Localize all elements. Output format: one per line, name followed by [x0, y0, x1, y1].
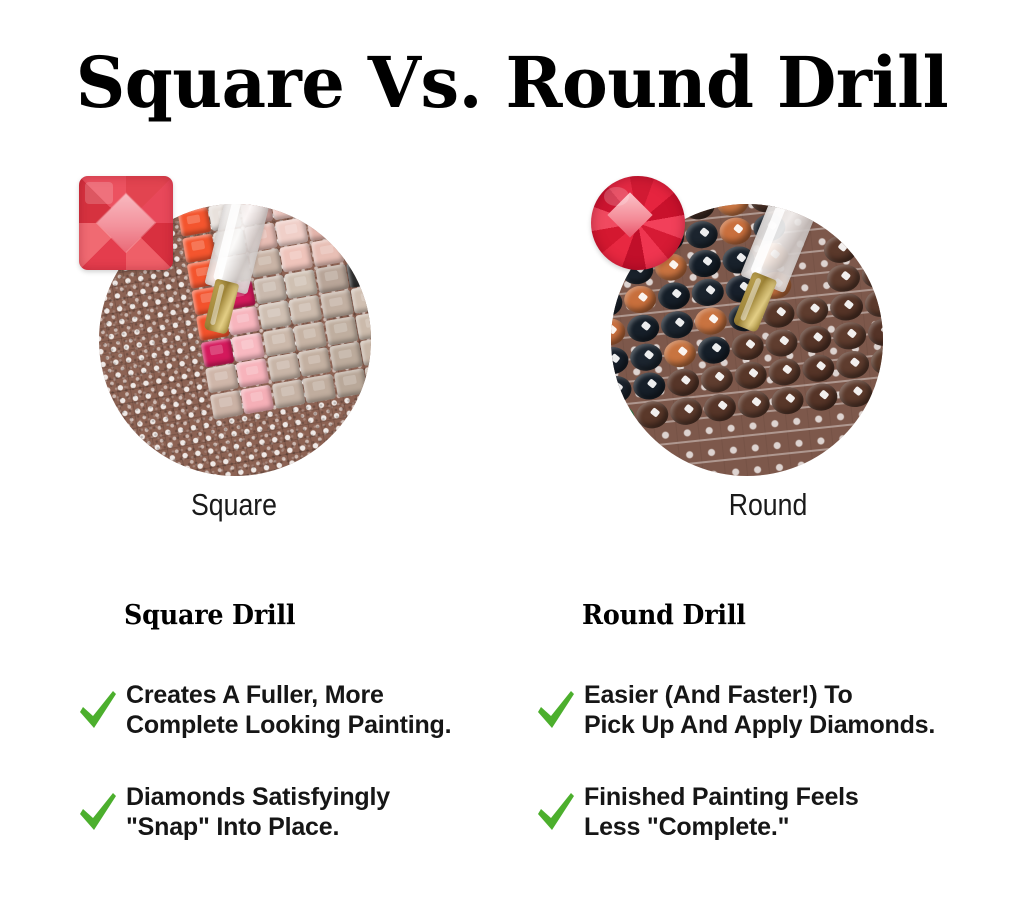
- check-icon: [536, 688, 576, 732]
- list-item: Easier (And Faster!) To Pick Up And Appl…: [536, 679, 1006, 741]
- photo-column-square: [0, 196, 512, 496]
- comparison-section: Square Drill Creates A Fuller, More Comp…: [0, 600, 1024, 900]
- photo-stage-square: [91, 196, 421, 496]
- infographic-root: Square Vs. Round Drill: [0, 0, 1024, 923]
- round-gem: [591, 176, 685, 270]
- caption-row: Square Round: [0, 486, 1024, 526]
- pen-tip: [732, 271, 777, 333]
- heading-round-drill: Round Drill: [582, 600, 981, 632]
- caption-round: Round: [548, 486, 988, 524]
- photo-stage-round: [603, 196, 933, 496]
- photo-row: [0, 196, 1024, 496]
- check-icon: [536, 790, 576, 834]
- pen-tip: [203, 278, 239, 334]
- column-round-drill: Round Drill Easier (And Faster!) To Pick…: [536, 600, 1006, 883]
- column-square-drill: Square Drill Creates A Fuller, More Comp…: [78, 600, 548, 883]
- list-item-text: Diamonds Satisfyingly "Snap" Into Place.: [126, 782, 390, 842]
- photo-column-round: [512, 196, 1024, 496]
- title-container: Square Vs. Round Drill: [0, 44, 1024, 122]
- square-gem: [79, 176, 173, 270]
- list-item: Creates A Fuller, More Complete Looking …: [78, 679, 548, 741]
- list-item: Diamonds Satisfyingly "Snap" Into Place.: [78, 781, 548, 843]
- check-icon: [78, 688, 118, 732]
- list-item: Finished Painting Feels Less "Complete.": [536, 781, 1006, 843]
- caption-square: Square: [14, 486, 454, 524]
- heading-square-drill: Square Drill: [124, 600, 523, 632]
- list-item-text: Easier (And Faster!) To Pick Up And Appl…: [584, 680, 935, 740]
- check-icon: [78, 790, 118, 834]
- list-item-text: Finished Painting Feels Less "Complete.": [584, 782, 859, 842]
- page-title: Square Vs. Round Drill: [10, 44, 1014, 122]
- list-item-text: Creates A Fuller, More Complete Looking …: [126, 680, 451, 740]
